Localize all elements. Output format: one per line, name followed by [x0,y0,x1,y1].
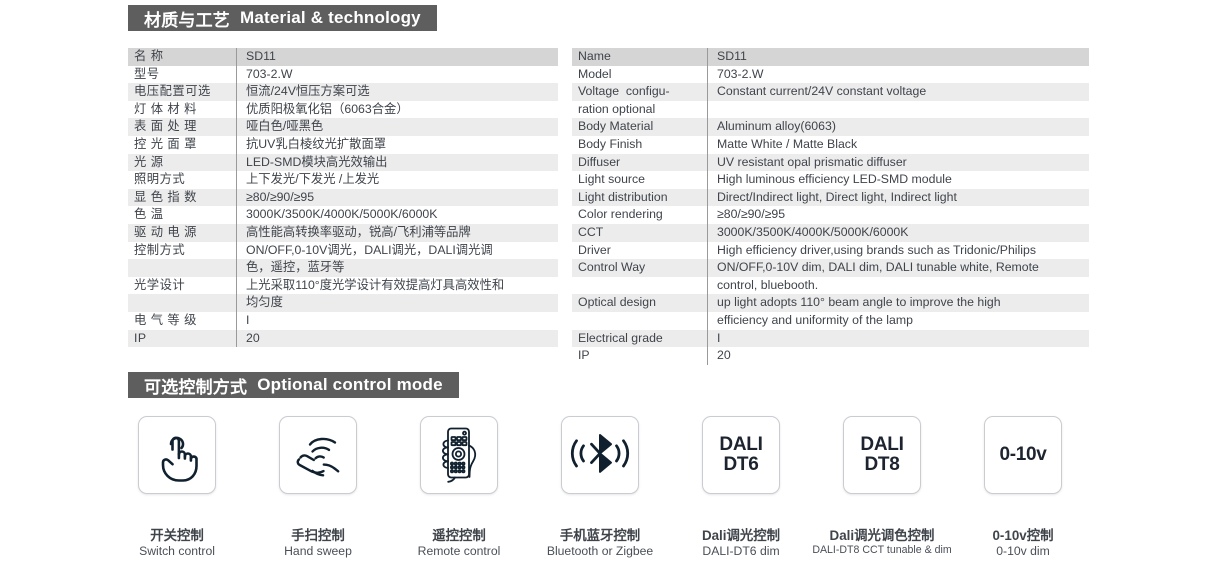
spec-row-value: UV resistant opal prismatic diffuser [708,154,1089,172]
spec-row: Light sourceHigh luminous efficiency LED… [572,171,1089,189]
control-mode-glyph: DALIDT8 [844,435,920,475]
spec-row-value: 20 [237,330,558,348]
spec-row: Control WayON/OFF,0-10V dim, DALI dim, D… [572,259,1089,277]
spec-row-label: Body Material [572,118,707,136]
spec-row: CCT3000K/3500K/4000K/5000K/6000K [572,224,1089,242]
spec-row: 名 称SD11 [128,48,558,66]
control-mode-label-en: 0-10v dim [939,544,1107,558]
spec-row-value: 703-2.W [708,66,1089,84]
touch-hand-icon[interactable] [138,416,216,494]
spec-row-label: Light source [572,171,707,189]
spec-row: 控 光 面 罩抗UV乳白棱纹光扩散面罩 [128,136,558,154]
spec-row-value: 哑白色/哑黑色 [237,118,558,136]
spec-row: Light distributionDirect/Indirect light,… [572,189,1089,207]
spec-row: Voltage configu-Constant current/24V con… [572,83,1089,101]
spec-row-label [128,294,236,296]
spec-row-value: 上光采取110°度光学设计有效提高灯具高效性和 [237,277,558,295]
spec-row-value: 20 [708,347,1089,365]
spec-row-label: 控制方式 [128,242,236,260]
bluetooth-waves-icon[interactable] [561,416,639,494]
spec-row: 均匀度 [128,294,558,312]
control-mode-card[interactable]: 遥控控制Remote control [420,416,498,494]
spec-row: NameSD11 [572,48,1089,66]
spec-row-label [572,312,707,314]
spec-row-label: 照明方式 [128,171,236,189]
spec-row: 驱 动 电 源高性能高转换率驱动，锐高/飞利浦等品牌 [128,224,558,242]
control-mode-card[interactable]: 开关控制Switch control [138,416,216,494]
spec-row: Electrical gradeI [572,330,1089,348]
spec-row-label [572,277,707,279]
section-header-material-en: Material & technology [240,8,421,28]
section-header-control-cn: 可选控制方式 [144,373,247,398]
spec-row-label: ration optional [572,101,707,119]
spec-row-label: 光 源 [128,154,236,172]
spec-row: control, bluebooth. [572,277,1089,295]
spec-row-value: I [237,312,558,330]
spec-row: 光学设计上光采取110°度光学设计有效提高灯具高效性和 [128,277,558,295]
spec-row-value: up light adopts 110° beam angle to impro… [708,294,1089,312]
spec-row-label: CCT [572,224,707,242]
spec-row: 色，遥控，蓝牙等 [128,259,558,277]
spec-column-divider [707,101,708,119]
spec-table-chinese: 名 称SD11型号703-2.W电压配置可选恒流/24V恒压方案可选灯 体 材 … [128,48,558,347]
spec-row-value: 优质阳极氧化铝（6063合金） [237,101,558,119]
spec-row-label: 驱 动 电 源 [128,224,236,242]
spec-row: Optical designup light adopts 110° beam … [572,294,1089,312]
spec-row: 型号703-2.W [128,66,558,84]
spec-row: Color rendering≥80/≥90/≥95 [572,206,1089,224]
spec-row-value: Matte White / Matte Black [708,136,1089,154]
spec-row: 光 源LED-SMD模块高光效输出 [128,154,558,172]
spec-row-value: ≥80/≥90/≥95 [237,189,558,207]
spec-row-label [128,259,236,261]
spec-row-value: efficiency and uniformity of the lamp [708,312,1089,330]
spec-row-value: 均匀度 [237,294,558,312]
spec-row: 电 气 等 级I [128,312,558,330]
spec-row-value: control, bluebooth. [708,277,1089,295]
spec-row-value: 高性能高转换率驱动，锐高/飞利浦等品牌 [237,224,558,242]
spec-row: efficiency and uniformity of the lamp [572,312,1089,330]
spec-row-label: Electrical grade [572,330,707,348]
spec-row-label: 名 称 [128,48,236,66]
spec-row-value: ON/OFF,0-10V调光，DALI调光，DALI调光调 [237,242,558,260]
spec-row-label: 光学设计 [128,277,236,295]
spec-row-value: Direct/Indirect light, Direct light, Ind… [708,189,1089,207]
spec-row-label: Diffuser [572,154,707,172]
section-header-material-cn: 材质与工艺 [144,6,230,31]
control-mode-label-cn: 0-10v控制 [939,524,1107,544]
section-header-control-mode: 可选控制方式 Optional control mode [128,372,459,398]
dali-dt6-icon[interactable]: DALIDT6 [702,416,780,494]
spec-row-value: ≥80/≥90/≥95 [708,206,1089,224]
spec-row-value: High luminous efficiency LED-SMD module [708,171,1089,189]
spec-row-value: LED-SMD模块高光效输出 [237,154,558,172]
spec-row-label: Body Finish [572,136,707,154]
spec-table-english: NameSD11Model703-2.WVoltage configu-Cons… [572,48,1089,365]
spec-row-label: Color rendering [572,206,707,224]
spec-row: 色 温3000K/3500K/4000K/5000K/6000K [128,206,558,224]
spec-row-label: 表 面 处 理 [128,118,236,136]
spec-row: ration optional [572,101,1089,119]
spec-row: 表 面 处 理哑白色/哑黑色 [128,118,558,136]
spec-row-value: I [708,330,1089,348]
spec-row-label: 灯 体 材 料 [128,101,236,119]
spec-row-value: 上下发光/下发光 /上发光 [237,171,558,189]
hand-sweep-icon[interactable] [279,416,357,494]
spec-row-value: 色，遥控，蓝牙等 [237,259,558,277]
control-mode-card[interactable]: 0-10v0-10v控制0-10v dim [984,416,1062,494]
spec-row-value: Constant current/24V constant voltage [708,83,1089,101]
spec-row-label: Light distribution [572,189,707,207]
spec-row-label: Driver [572,242,707,260]
spec-row-label: IP [128,330,236,348]
spec-row-label: Name [572,48,707,66]
spec-row-label: Optical design [572,294,707,312]
spec-row-value: Aluminum alloy(6063) [708,118,1089,136]
spec-row: Model703-2.W [572,66,1089,84]
spec-row-value [708,101,1089,103]
spec-row-value: SD11 [708,48,1089,66]
section-header-control-en: Optional control mode [257,375,443,395]
spec-row-label: 控 光 面 罩 [128,136,236,154]
spec-row-label: 电压配置可选 [128,83,236,101]
spec-row-value: 抗UV乳白棱纹光扩散面罩 [237,136,558,154]
spec-row-label: Voltage configu- [572,83,707,101]
spec-row: IP20 [572,347,1089,365]
spec-row-value: 703-2.W [237,66,558,84]
section-header-material: 材质与工艺 Material & technology [128,5,437,31]
spec-row-label: IP [572,347,707,365]
spec-row: DiffuserUV resistant opal prismatic diff… [572,154,1089,172]
control-mode-card[interactable]: 手机蓝牙控制Bluetooth or Zigbee [561,416,639,494]
spec-row-label: 型号 [128,66,236,84]
spec-row-value: 3000K/3500K/4000K/5000K/6000K [708,224,1089,242]
spec-row: 显 色 指 数≥80/≥90/≥95 [128,189,558,207]
spec-row: Body FinishMatte White / Matte Black [572,136,1089,154]
spec-row-label: 色 温 [128,206,236,224]
spec-sheet-page: 材质与工艺 Material & technology 名 称SD11型号703… [0,0,1216,585]
spec-row: DriverHigh efficiency driver,using brand… [572,242,1089,260]
spec-row-value: ON/OFF,0-10V dim, DALI dim, DALI tunable… [708,259,1089,277]
control-mode-list: 开关控制Switch control 手扫控制Hand sweep [128,416,1108,566]
spec-row-label: Control Way [572,259,707,277]
control-mode-glyph: DALIDT6 [703,435,779,475]
spec-row: 灯 体 材 料优质阳极氧化铝（6063合金） [128,101,558,119]
spec-row: 照明方式上下发光/下发光 /上发光 [128,171,558,189]
dali-dt8-icon[interactable]: DALIDT8 [843,416,921,494]
spec-row-value: SD11 [237,48,558,66]
spec-row-label: 显 色 指 数 [128,189,236,207]
control-mode-card[interactable]: DALIDT8Dali调光调色控制DALI-DT8 CCT tunable & … [843,416,921,494]
spec-row: Body MaterialAluminum alloy(6063) [572,118,1089,136]
spec-row-label: 电 气 等 级 [128,312,236,330]
control-mode-glyph: 0-10v [985,445,1061,465]
remote-control-icon[interactable] [420,416,498,494]
spec-row-value: 3000K/3500K/4000K/5000K/6000K [237,206,558,224]
zero-to-ten-volt-icon[interactable]: 0-10v [984,416,1062,494]
spec-row: 电压配置可选恒流/24V恒压方案可选 [128,83,558,101]
control-mode-card[interactable]: 手扫控制Hand sweep [279,416,357,494]
spec-row-value: 恒流/24V恒压方案可选 [237,83,558,101]
spec-row: 控制方式ON/OFF,0-10V调光，DALI调光，DALI调光调 [128,242,558,260]
control-mode-card[interactable]: DALIDT6Dali调光控制DALI-DT6 dim [702,416,780,494]
spec-row: IP20 [128,330,558,348]
spec-row-label: Model [572,66,707,84]
spec-row-value: High efficiency driver,using brands such… [708,242,1089,260]
